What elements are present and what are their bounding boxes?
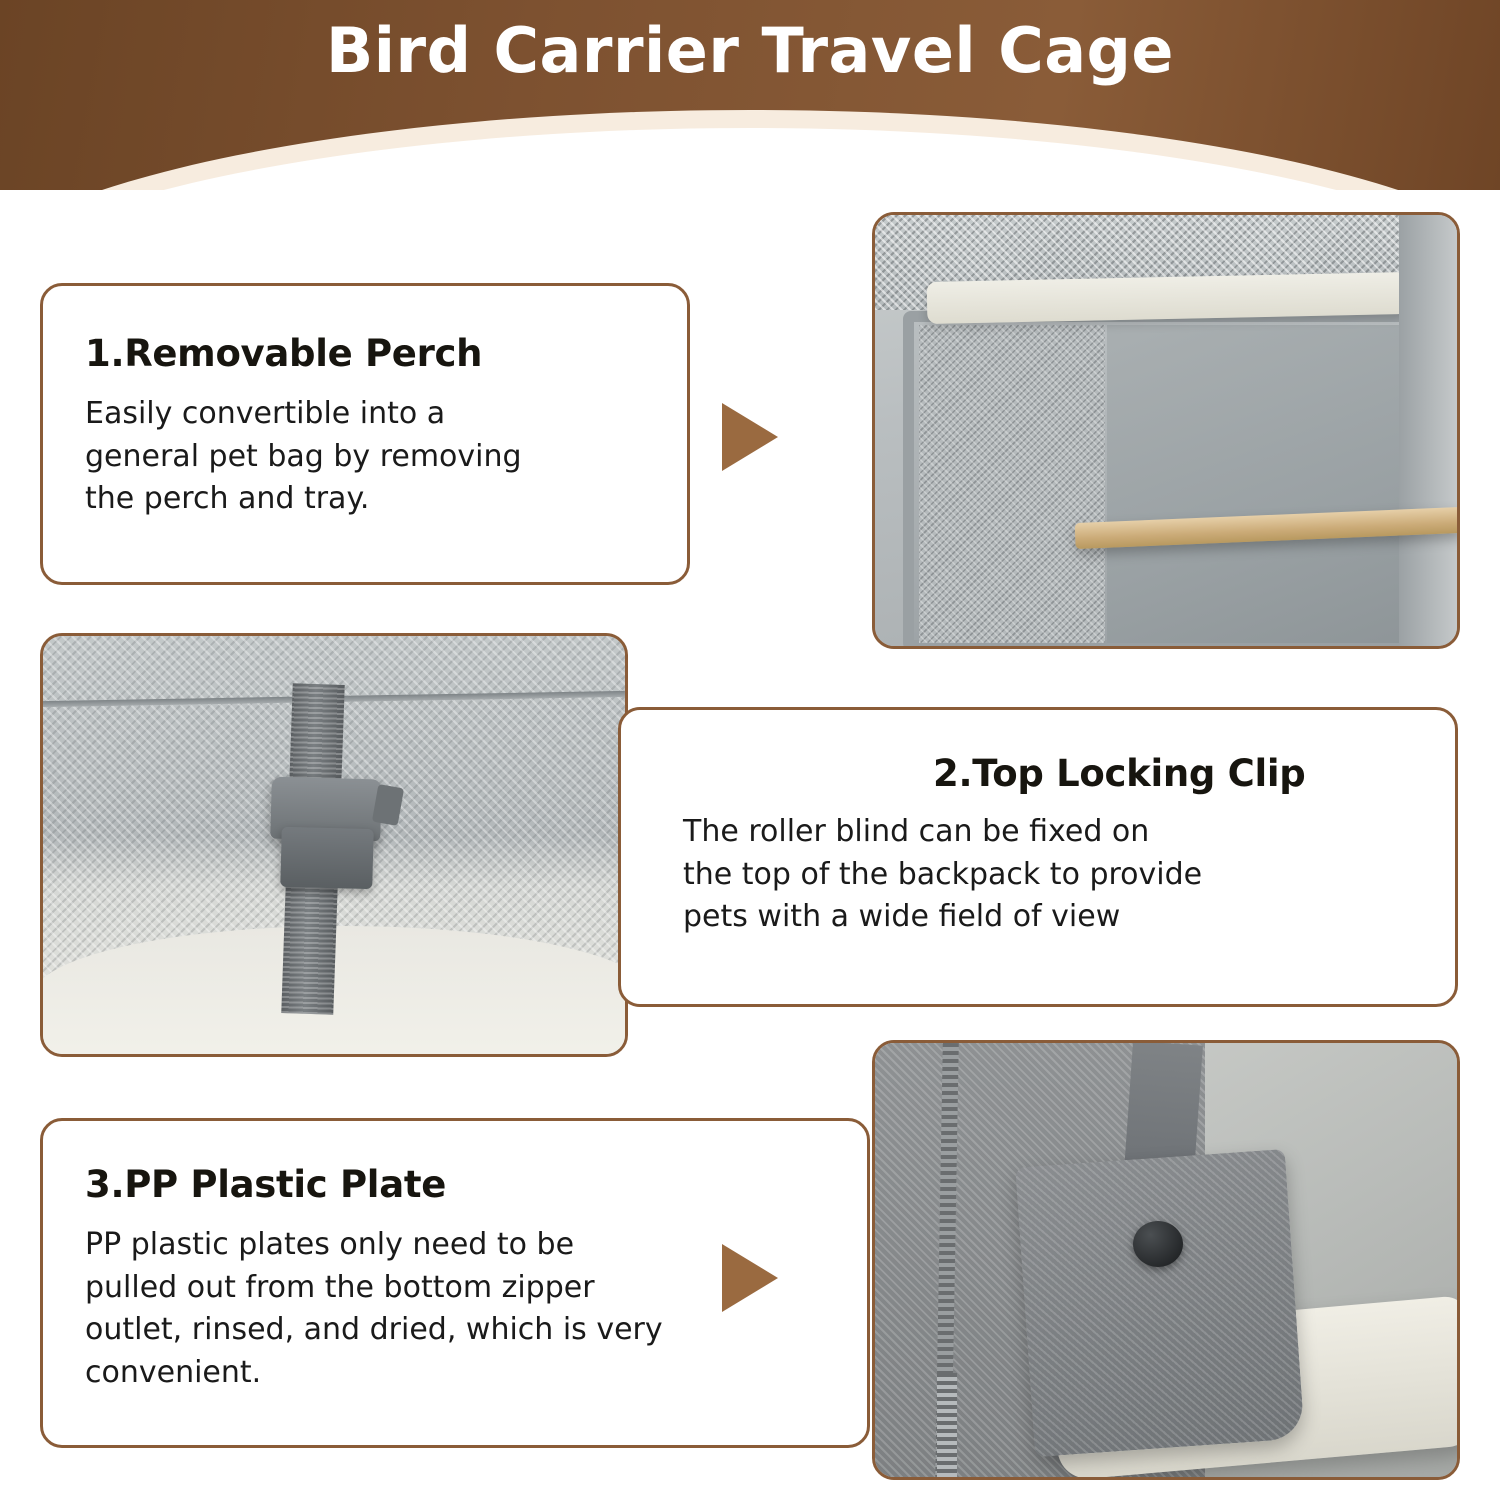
photo3-bottom-zipper xyxy=(937,1373,957,1480)
arrow-right-icon xyxy=(722,403,778,471)
photo-top-locking-clip xyxy=(40,633,628,1057)
feature-body-pp-plastic-plate: PP plastic plates only need to be pulled… xyxy=(85,1224,827,1394)
photo1-mesh-screen xyxy=(919,325,1105,643)
photo-pp-plastic-plate xyxy=(872,1040,1460,1480)
arrow-right-icon-bottom xyxy=(722,1244,778,1312)
feature-title-pp-plastic-plate: 3.PP Plastic Plate xyxy=(85,1163,827,1206)
photo-removable-perch xyxy=(872,212,1460,649)
feature-card-top-locking-clip: 2.Top Locking Clip The roller blind can … xyxy=(618,707,1458,1007)
page-title: Bird Carrier Travel Cage xyxy=(0,14,1500,87)
page-header: Bird Carrier Travel Cage xyxy=(0,0,1500,190)
photo3-fabric-flap xyxy=(1015,1149,1305,1457)
photo2-buckle-lower xyxy=(280,827,374,889)
feature-body-removable-perch: Easily convertible into a general pet ba… xyxy=(85,393,647,521)
feature-title-removable-perch: 1.Removable Perch xyxy=(85,332,647,375)
feature-body-top-locking-clip: The roller blind can be fixed on the top… xyxy=(677,811,1397,939)
photo3-knob-icon xyxy=(1133,1221,1183,1267)
photo1-side-wall xyxy=(1399,215,1457,646)
feature-card-removable-perch: 1.Removable Perch Easily convertible int… xyxy=(40,283,690,585)
photo1-fabric-panel xyxy=(1107,325,1419,643)
feature-title-top-locking-clip: 2.Top Locking Clip xyxy=(677,752,1397,795)
